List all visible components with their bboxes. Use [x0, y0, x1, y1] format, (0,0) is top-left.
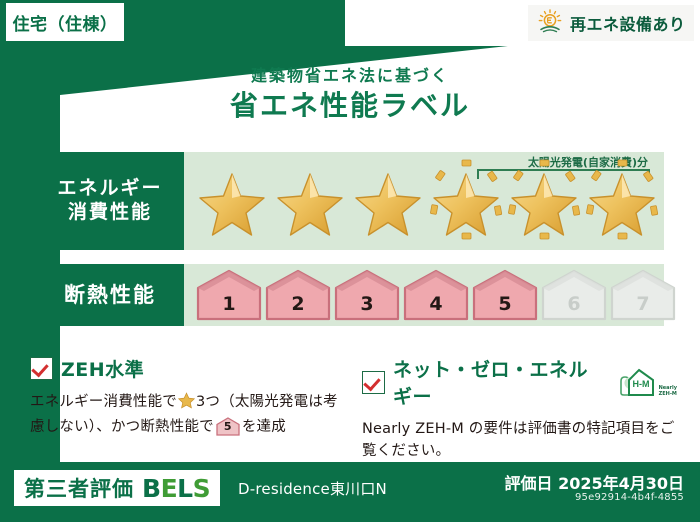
criterion-left-description: エネルギー消費性能で 3つ（太陽光発電は考慮しない）、かつ断熱性能で 5 を達成: [30, 391, 340, 439]
inline-house-value: 5: [216, 418, 240, 435]
evaluation-date-value: 2025年4月30日: [558, 474, 684, 493]
housing-type-label: 住宅（住棟）: [13, 10, 118, 35]
insulation-level-number: 1: [196, 293, 262, 315]
evaluation-date-label: 評価日: [504, 474, 552, 493]
energy-performance-body: 太陽光発電(自家消費)分: [184, 152, 664, 250]
renewable-badge-label: 再エネ設備あり: [570, 11, 686, 35]
insulation-level-house: 7: [610, 269, 676, 321]
inline-house-badge: 5: [216, 417, 240, 436]
insulation-level-house: 4: [403, 269, 469, 321]
zeh-m-logo: H-M Nearly ZEH-M: [617, 367, 677, 397]
bels-certification-box: 第三者評価 BELS: [14, 470, 220, 506]
label-subtitle: 建築物省エネ法に基づく: [0, 62, 700, 86]
insulation-performance-body: 1 2 3 4 5 6 7: [184, 264, 664, 326]
third-party-label: 第三者評価: [24, 473, 134, 503]
star-icon: [350, 158, 426, 244]
criterion-left-desc-part3: を達成: [242, 419, 286, 435]
criterion-left-header: ZEH水準: [30, 355, 340, 382]
energy-label-line2: 消費性能: [68, 201, 152, 225]
insulation-level-house: 5: [472, 269, 538, 321]
bels-energy-label: 住宅（住棟） 再エネ設備あり 建築物省エネ法: [0, 0, 700, 522]
star-icon: [272, 158, 348, 244]
insulation-level-number: 7: [610, 293, 676, 315]
insulation-level-number: 2: [265, 293, 331, 315]
zeh-m-house-icon: H-M: [617, 367, 657, 397]
label-footer: 第三者評価 BELS D-residence東川口N 評価日 2025年4月30…: [0, 462, 700, 522]
star-icon: [506, 158, 582, 244]
energy-performance-row: エネルギー 消費性能 太陽光発電(自家消費)分: [36, 152, 664, 250]
insulation-level-number: 6: [541, 293, 607, 315]
bels-wordmark: BELS: [142, 474, 210, 503]
star-icon: [584, 158, 660, 244]
insulation-level-house: 2: [265, 269, 331, 321]
zeh-m-sub-line2: ZEH-M: [659, 391, 677, 397]
insulation-level-house: 6: [541, 269, 607, 321]
insulation-level-house: 1: [196, 269, 262, 321]
criterion-left-title: ZEH水準: [61, 355, 144, 382]
evaluation-id: 95e92914-4b4f-4855: [575, 492, 684, 503]
criterion-left-desc-part1: エネルギー消費性能で: [30, 394, 177, 410]
solar-sun-icon: [537, 9, 563, 37]
criterion-right-header: ネット・ゼロ・エネルギー H-M Nearly Z: [362, 355, 677, 409]
inline-star-icon: [178, 392, 195, 416]
energy-label-line1: エネルギー: [57, 177, 162, 201]
housing-type-tag: 住宅（住棟）: [6, 3, 124, 41]
insulation-label-text: 断熱性能: [64, 282, 156, 308]
evaluation-date: 評価日 2025年4月30日: [504, 470, 684, 494]
insulation-performance-label: 断熱性能: [36, 264, 184, 326]
checkbox-checked-icon: [362, 371, 385, 394]
insulation-performance-row: 断熱性能 1 2 3 4 5: [36, 264, 664, 326]
star-icon: [194, 158, 270, 244]
criterion-net-zero-energy: ネット・ゼロ・エネルギー H-M Nearly Z: [362, 355, 677, 463]
star-icon: [428, 158, 504, 244]
insulation-level-number: 3: [334, 293, 400, 315]
energy-performance-label: エネルギー 消費性能: [36, 152, 184, 250]
insulation-level-group: 1 2 3 4 5 6 7: [196, 269, 676, 321]
criterion-right-description: Nearly ZEH-M の要件は評価書の特記項目をご覧ください。: [362, 418, 677, 463]
star-rating-group: [194, 158, 660, 244]
criterion-right-title: ネット・ゼロ・エネルギー: [393, 355, 605, 409]
renewable-equipment-badge: 再エネ設備あり: [528, 5, 694, 41]
insulation-level-number: 4: [403, 293, 469, 315]
svg-text:H-M: H-M: [632, 379, 649, 389]
insulation-level-house: 3: [334, 269, 400, 321]
zeh-m-logo-sublabel: Nearly ZEH-M: [659, 386, 677, 397]
checkbox-checked-icon: [30, 357, 53, 380]
page-title: 省エネ性能ラベル: [0, 84, 700, 124]
insulation-level-number: 5: [472, 293, 538, 315]
criterion-zeh-standard: ZEH水準 エネルギー消費性能で 3つ（太陽光発電は考慮しない）、かつ断熱性能で…: [30, 355, 340, 439]
building-name: D-residence東川口N: [238, 478, 387, 499]
